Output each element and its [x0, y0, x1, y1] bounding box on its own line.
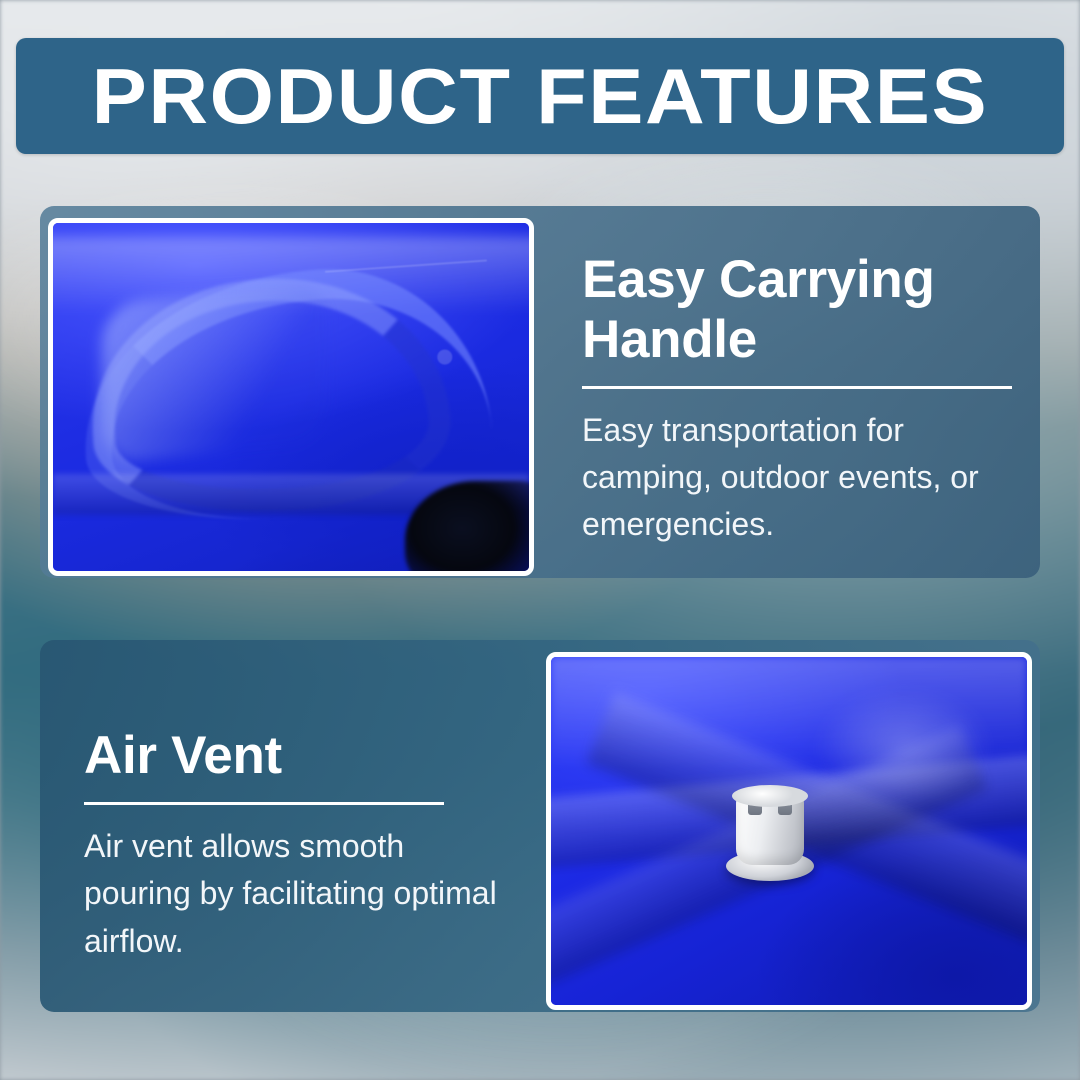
product-features-infographic: PRODUCT FEATURES Easy Carrying Handle Ea… — [0, 0, 1080, 1080]
air-vent-cap — [722, 779, 818, 883]
jerry-can-handle-photo — [53, 223, 529, 571]
feature-image-air-vent — [546, 652, 1032, 1010]
title-divider — [84, 802, 444, 805]
feature-description: Easy transportation for camping, outdoor… — [582, 407, 1012, 549]
feature-image-carrying-handle — [48, 218, 534, 576]
title-divider — [582, 386, 1012, 389]
embossed-text-marking — [325, 259, 495, 388]
photo-highlight — [799, 678, 1008, 817]
feature-text-carrying-handle: Easy Carrying Handle Easy transportation… — [582, 250, 1012, 549]
handle-grip-sheen — [101, 280, 328, 465]
feature-title: Air Vent — [84, 726, 514, 786]
feature-card-air-vent: Air Vent Air vent allows smooth pouring … — [40, 640, 1040, 1012]
feature-card-easy-carrying-handle: Easy Carrying Handle Easy transportation… — [40, 206, 1040, 578]
page-title: PRODUCT FEATURES — [92, 57, 989, 135]
feature-text-air-vent: Air Vent Air vent allows smooth pouring … — [84, 726, 514, 965]
header-banner: PRODUCT FEATURES — [16, 38, 1064, 154]
vent-cap-top — [732, 785, 808, 807]
jerry-can-air-vent-photo — [551, 657, 1027, 1005]
feature-description: Air vent allows smooth pouring by facili… — [84, 823, 514, 965]
feature-title: Easy Carrying Handle — [582, 250, 1012, 370]
